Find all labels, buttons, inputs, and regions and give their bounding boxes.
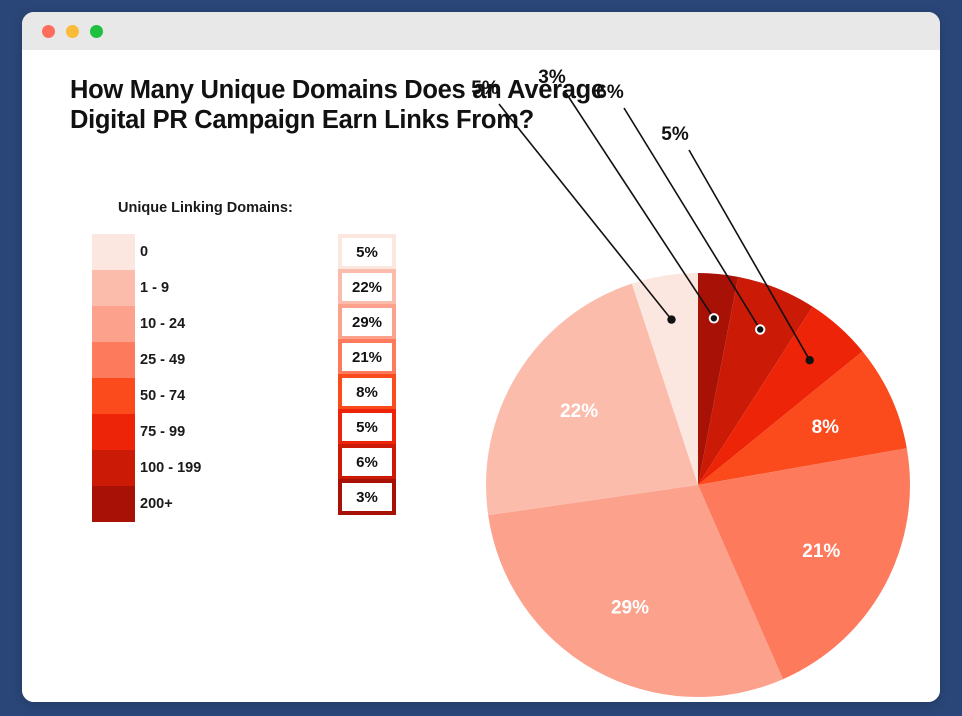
legend-value-200-plus: 3% — [338, 479, 396, 515]
legend-label-column: 0 1 - 9 10 - 24 25 - 49 50 - 74 75 - 99 … — [140, 234, 201, 522]
legend-value-0: 5% — [338, 234, 396, 270]
leader-dot-200 — [710, 314, 718, 322]
pie-chart-svg: 8%21%29%22%5%3%6%5% — [422, 50, 940, 702]
legend-value-75-99: 5% — [338, 409, 396, 445]
leader-dot-0 — [667, 315, 675, 323]
leader-dot-100to199 — [756, 325, 764, 333]
pie-value-label-100to199: 6% — [596, 82, 624, 103]
pie-value-label-200: 3% — [538, 67, 566, 88]
legend-value-50-74: 8% — [338, 374, 396, 410]
leader-dot-75to99 — [806, 356, 814, 364]
pie-value-label-75to99: 5% — [661, 124, 689, 145]
minimize-window-button[interactable] — [66, 25, 79, 38]
pie-value-label-1to9: 22% — [560, 401, 598, 422]
legend-label-100-199: 100 - 199 — [140, 450, 201, 486]
chart-content-area: How Many Unique Domains Does an Average … — [22, 50, 940, 702]
legend-heading: Unique Linking Domains: — [118, 200, 293, 216]
legend-value-column: 5% 22% 29% 21% 8% 5% 6% 3% — [338, 234, 396, 514]
legend-label-1-9: 1 - 9 — [140, 270, 201, 306]
legend-value-25-49: 21% — [338, 339, 396, 375]
legend-swatch-0 — [92, 234, 135, 270]
legend-swatch-100-199 — [92, 450, 135, 486]
legend-value-10-24: 29% — [338, 304, 396, 340]
maximize-window-button[interactable] — [90, 25, 103, 38]
legend-swatch-200-plus — [92, 486, 135, 522]
browser-window: How Many Unique Domains Does an Average … — [22, 12, 940, 702]
legend-swatch-50-74 — [92, 378, 135, 414]
legend-label-0: 0 — [140, 234, 201, 270]
legend-value-100-199: 6% — [338, 444, 396, 480]
legend-label-200-plus: 200+ — [140, 486, 201, 522]
leader-line-0 — [499, 104, 672, 320]
legend-swatch-10-24 — [92, 306, 135, 342]
close-window-button[interactable] — [42, 25, 55, 38]
legend-label-75-99: 75 - 99 — [140, 414, 201, 450]
pie-chart: 8%21%29%22%5%3%6%5% — [422, 50, 940, 702]
legend-label-50-74: 50 - 74 — [140, 378, 201, 414]
legend-label-10-24: 10 - 24 — [140, 306, 201, 342]
legend-swatch-75-99 — [92, 414, 135, 450]
window-title-bar — [22, 12, 940, 50]
legend-label-25-49: 25 - 49 — [140, 342, 201, 378]
pie-value-label-10to24: 29% — [611, 597, 649, 618]
legend-swatch-column — [92, 234, 135, 522]
pie-value-label-0: 5% — [471, 78, 499, 99]
legend-swatch-1-9 — [92, 270, 135, 306]
pie-value-label-25to49: 21% — [802, 541, 840, 562]
legend-swatch-25-49 — [92, 342, 135, 378]
legend-value-1-9: 22% — [338, 269, 396, 305]
pie-value-label-50to74: 8% — [812, 417, 840, 438]
